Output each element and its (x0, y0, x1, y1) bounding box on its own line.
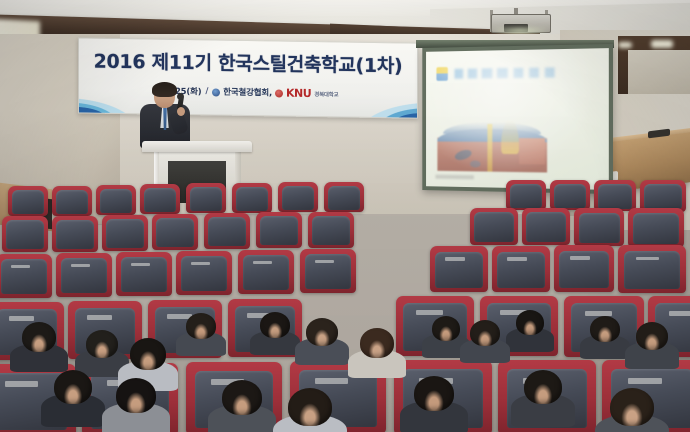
auditorium-seat (574, 208, 624, 246)
audience-head (54, 370, 92, 404)
seat-number-tag (315, 378, 348, 384)
seat-cushion (106, 219, 144, 248)
audience-member (590, 316, 620, 342)
audience-member (636, 322, 668, 350)
auditorium-seat (256, 212, 302, 248)
audience-member (22, 322, 56, 352)
seat-cushion (260, 216, 298, 245)
auditorium-seat (0, 254, 52, 298)
auditorium-seat (278, 182, 318, 212)
audience-head (306, 318, 338, 346)
seat-number-tag (191, 262, 210, 266)
seat-cushion (282, 186, 315, 210)
banner-university-name: 경북대학교 (314, 90, 338, 98)
seat-number-tag (416, 310, 443, 315)
auditorium-seat (52, 186, 92, 216)
association-logo-icon (212, 88, 220, 96)
auditorium-seat (186, 183, 226, 213)
seat-cushion (328, 186, 361, 210)
audience-head (116, 378, 156, 413)
seat-number-tag (5, 381, 38, 387)
auditorium-seat (492, 246, 550, 292)
seat-cushion (510, 184, 543, 208)
auditorium-seat (522, 208, 570, 245)
auditorium-seat (204, 213, 250, 249)
banner-organizer: 한국철강협회, (223, 85, 272, 98)
seat-number-tag (9, 316, 34, 321)
door-lamp (651, 40, 673, 48)
auditorium-seat (550, 180, 590, 210)
door-lamp-secondary (618, 42, 632, 48)
seat-cushion (644, 184, 682, 210)
auditorium-seat (324, 182, 364, 212)
audience-member (516, 310, 544, 335)
seat-cushion (208, 217, 246, 246)
audience-member (432, 316, 460, 341)
audience-member (222, 380, 262, 415)
auditorium-seat (470, 208, 518, 245)
seat-number-tag (570, 256, 590, 260)
slide-title-text (455, 67, 574, 79)
seat-cushion (633, 213, 679, 244)
projector-icon (487, 8, 553, 34)
auditorium-seat (2, 216, 48, 252)
seat-cushion (598, 184, 632, 209)
auditorium-seat (554, 245, 614, 292)
audience-member (306, 318, 338, 346)
seat-cushion (56, 220, 94, 249)
seat-number-tag (636, 257, 659, 261)
auditorium-seat (102, 215, 148, 251)
audience-member (116, 378, 156, 413)
audience-head (22, 322, 56, 352)
seat-cushion (190, 187, 223, 211)
door-panel (628, 50, 690, 94)
microphone-head-icon (177, 93, 184, 100)
audience-head (130, 338, 166, 370)
audience-head (360, 328, 394, 358)
audience-member (360, 328, 394, 358)
presenter-hair (152, 82, 177, 97)
auditorium-seat (628, 208, 684, 247)
auditorium-seat (594, 180, 636, 211)
seat-cushion (474, 212, 513, 242)
auditorium-seat (300, 249, 356, 293)
auditorium-seat (96, 185, 136, 215)
seat-number-tag (669, 311, 690, 316)
seat-number-tag (585, 311, 612, 316)
audience-head (222, 380, 262, 415)
seat-cushion (56, 190, 89, 214)
audience-member (260, 312, 290, 338)
seating-area (0, 150, 690, 432)
auditorium-seat (176, 251, 232, 295)
banner-knu-mark: KNU (286, 86, 311, 99)
audience-head (86, 330, 118, 358)
audience-head (636, 322, 668, 350)
auditorium-seat (430, 246, 488, 292)
audience-head (414, 376, 454, 411)
audience-member (610, 388, 654, 426)
audience-member (524, 370, 562, 404)
seat-number-tag (87, 315, 112, 320)
auditorium-seat (618, 245, 686, 293)
seat-cushion (236, 187, 269, 211)
auditorium-seat (308, 212, 354, 248)
seat-cushion (144, 188, 177, 212)
audience-head (516, 310, 544, 335)
seat-number-tag (507, 257, 527, 261)
audience-member (54, 370, 92, 404)
audience-member (414, 376, 454, 411)
auditorium-seat (56, 253, 112, 297)
seat-cushion (526, 212, 565, 242)
auditorium-seat (232, 183, 272, 213)
audience-head (610, 388, 654, 426)
auditorium-seat (52, 216, 98, 252)
auditorium-seat (140, 184, 180, 214)
audience-head (288, 388, 332, 426)
presenter-hand (177, 107, 185, 116)
seat-number-tag (11, 265, 30, 269)
seat-number-tag (71, 264, 90, 268)
seat-cushion (100, 189, 133, 213)
seat-number-tag (445, 257, 465, 261)
audience-head (470, 320, 500, 346)
audience-member (186, 313, 216, 339)
seat-number-tag (253, 261, 272, 265)
lecture-hall-photo: 2016 제11기 한국스틸건축학교(1차) .10.25(화) / 한국철강협… (0, 0, 690, 432)
seat-cushion (156, 218, 194, 247)
presenter (138, 84, 194, 146)
audience-member (470, 320, 500, 346)
seat-number-tag (315, 260, 334, 264)
audience-head (590, 316, 620, 342)
seat-cushion (579, 213, 620, 243)
auditorium-seat (8, 186, 48, 216)
seat-number-tag (131, 263, 150, 267)
knu-logo-icon (275, 89, 283, 97)
audience-head (524, 370, 562, 404)
audience-head (260, 312, 290, 338)
event-banner: 2016 제11기 한국스틸건축학교(1차) .10.25(화) / 한국철강협… (78, 37, 418, 118)
slide-logo-icon (436, 67, 447, 81)
seat-cushion (554, 184, 587, 208)
banner-title: 2016 제11기 한국스틸건축학교(1차) (79, 46, 417, 78)
auditorium-seat (238, 250, 294, 294)
auditorium-seat (506, 180, 546, 210)
audience-member (130, 338, 166, 370)
audience-head (432, 316, 460, 341)
seat-number-tag (628, 378, 662, 384)
audience-member (288, 388, 332, 426)
auditorium-seat (152, 214, 198, 250)
audience-head (186, 313, 216, 339)
seat-cushion (6, 220, 44, 249)
auditorium-seat (116, 252, 172, 296)
banner-separator: / (204, 86, 209, 96)
seat-cushion (12, 190, 45, 214)
seat-cushion (312, 216, 350, 245)
audience-member (86, 330, 118, 358)
